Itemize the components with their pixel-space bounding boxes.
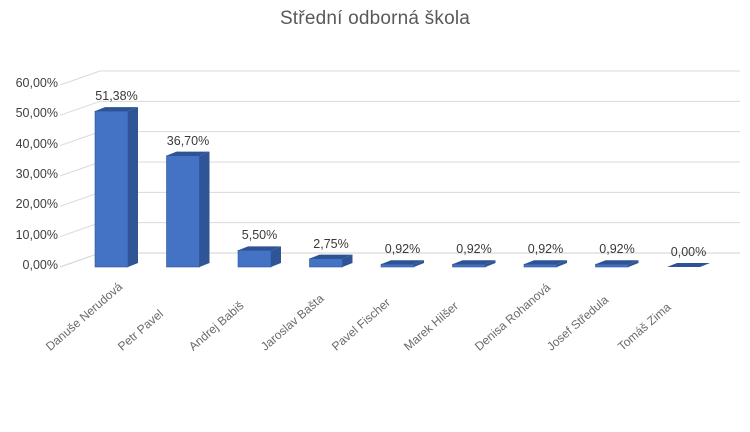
bar-data-label: 5,50% [220, 228, 300, 242]
bar-column [95, 107, 138, 267]
bar-data-label: 0,92% [577, 242, 657, 256]
chart-container: Střední odborná škola 0,00%10,00%20,00%3… [0, 0, 750, 432]
bar-data-label: 0,92% [506, 242, 586, 256]
bar-front-face [453, 264, 486, 267]
bar-column [310, 255, 353, 267]
gridline [60, 101, 740, 115]
bar-front-face [167, 156, 200, 267]
bar-column [238, 246, 281, 267]
bar-data-label: 0,92% [363, 242, 443, 256]
bar-data-label: 0,92% [434, 242, 514, 256]
gridline [60, 71, 740, 85]
bar-data-label: 0,00% [649, 245, 729, 259]
gridline [60, 162, 740, 176]
bar-column [381, 260, 424, 267]
bar-front-face [95, 111, 128, 267]
gridlines [60, 71, 740, 267]
bar-column [453, 260, 496, 267]
bar-top-face [667, 263, 710, 267]
bar-column [167, 152, 210, 267]
chart-plot-area [0, 0, 750, 432]
bar-front-face [381, 264, 414, 267]
bar-column [524, 260, 567, 267]
bar-front-face [596, 264, 629, 267]
bar-side-face [200, 152, 210, 267]
gridline [60, 192, 740, 206]
bar-front-face [238, 250, 271, 267]
bar-column [667, 263, 710, 267]
bar-data-label: 2,75% [291, 237, 371, 251]
bar-data-label: 36,70% [148, 134, 228, 148]
bar-data-label: 51,38% [77, 89, 157, 103]
bar-side-face [128, 107, 138, 267]
gridline [60, 223, 740, 237]
bar-front-face [310, 259, 343, 267]
bar-column [596, 260, 639, 267]
bar-front-face [524, 264, 557, 267]
